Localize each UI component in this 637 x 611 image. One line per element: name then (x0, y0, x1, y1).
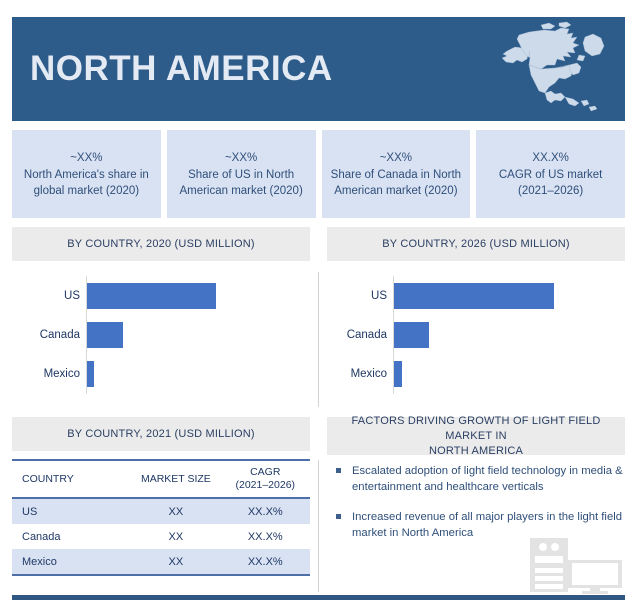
stat-card-na-share: ~XX% North America's share in global mar… (12, 130, 161, 218)
stat-card-us-cagr: XX.X% CAGR of US market (2021–2026) (476, 130, 625, 218)
factor-text: Increased revenue of all major players i… (352, 511, 622, 539)
chart-bar-canada (394, 322, 429, 348)
chart-category-label-us: US (12, 283, 80, 309)
bullet-icon (336, 468, 341, 473)
stat-value: ~XX% (380, 150, 412, 167)
stat-label-line1: North America's share in (24, 167, 149, 183)
table-row: Mexico XX XX.X% (12, 549, 310, 574)
chart-category-label-mexico: Mexico (327, 361, 387, 387)
factor-text: Escalated adoption of light field techno… (352, 465, 623, 493)
section-band-label-line2: NORTH AMERICA (337, 444, 615, 459)
section-band-label: BY COUNTRY, 2026 (USD MILLION) (382, 237, 570, 252)
table-cell-country: US (12, 506, 131, 518)
section-band-factors: FACTORS DRIVING GROWTH OF LIGHT FIELD MA… (327, 417, 625, 455)
table-cell-cagr: XX.X% (221, 531, 310, 543)
table-header-row: COUNTRY MARKET SIZE CAGR (2021–2026) (12, 461, 310, 497)
stat-value: ~XX% (70, 150, 102, 167)
table-cell-cagr: XX.X% (221, 556, 310, 568)
chart-category-label-canada: Canada (12, 322, 80, 348)
page-title: NORTH AMERICA (30, 49, 333, 89)
north-america-map-icon (489, 21, 617, 119)
infographic-page: NORTH AMERICA ~ (0, 0, 637, 611)
bar-chart-2026: US Canada Mexico (327, 272, 625, 402)
stat-label-line1: Share of Canada in North (331, 167, 461, 183)
section-band-chart-2026: BY COUNTRY, 2026 (USD MILLION) (327, 227, 625, 261)
stat-label-line2: global market (2020) (34, 183, 139, 199)
chart-category-label-canada: Canada (327, 322, 387, 348)
section-band-label: BY COUNTRY, 2020 (USD MILLION) (67, 237, 255, 252)
vertical-divider-bottom (318, 460, 319, 592)
table-cell-country: Mexico (12, 556, 131, 568)
chart-bar-mexico (394, 361, 402, 387)
chart-bar-us (87, 283, 216, 309)
chart-bar-us (394, 283, 554, 309)
stat-value: XX.X% (532, 150, 568, 167)
table-header-country: COUNTRY (12, 473, 131, 486)
stat-card-canada-share: ~XX% Share of Canada in North American m… (322, 130, 471, 218)
stat-label-line1: CAGR of US market (499, 167, 603, 183)
chart-category-label-mexico: Mexico (12, 361, 80, 387)
stat-label-line2: American market (2020) (334, 183, 457, 199)
chart-bar-mexico (87, 361, 94, 387)
table-header-market-size: MARKET SIZE (131, 473, 220, 486)
stat-label-line2: (2021–2026) (518, 183, 583, 199)
table-cell-market-size: XX (131, 506, 220, 518)
page-header: NORTH AMERICA (12, 17, 625, 121)
table-cell-market-size: XX (131, 531, 220, 543)
table-cell-cagr: XX.X% (221, 506, 310, 518)
bullet-icon (336, 514, 341, 519)
section-band-label-line1: FACTORS DRIVING GROWTH OF LIGHT FIELD MA… (337, 414, 615, 444)
stat-label-line1: Share of US in North (188, 167, 294, 183)
table-cell-country: Canada (12, 531, 131, 543)
chart-category-label-us: US (327, 283, 387, 309)
stat-value: ~XX% (225, 150, 257, 167)
table-row: US XX XX.X% (12, 499, 310, 524)
table-header-cagr-line2: (2021–2026) (221, 479, 310, 492)
table-header-cagr: CAGR (2021–2026) (221, 466, 310, 492)
section-band-label: BY COUNTRY, 2021 (USD MILLION) (67, 427, 255, 442)
vertical-divider-top (318, 272, 319, 407)
desktop-computer-icon (528, 536, 624, 594)
section-band-table-2021: BY COUNTRY, 2021 (USD MILLION) (12, 417, 310, 451)
list-item: Escalated adoption of light field techno… (334, 463, 624, 495)
stat-card-us-share: ~XX% Share of US in North American marke… (167, 130, 316, 218)
stat-label-line2: American market (2020) (179, 183, 302, 199)
bar-chart-2020: US Canada Mexico (12, 272, 310, 402)
table-header-cagr-line1: CAGR (221, 466, 310, 479)
table-row: Canada XX XX.X% (12, 524, 310, 549)
table-cell-market-size: XX (131, 556, 220, 568)
bottom-accent-bar (12, 595, 625, 600)
table-bottom-rule (12, 574, 310, 576)
section-band-chart-2020: BY COUNTRY, 2020 (USD MILLION) (12, 227, 310, 261)
stat-cards-row: ~XX% North America's share in global mar… (12, 130, 625, 218)
chart-bar-canada (87, 322, 123, 348)
market-size-table: COUNTRY MARKET SIZE CAGR (2021–2026) US … (12, 459, 310, 576)
